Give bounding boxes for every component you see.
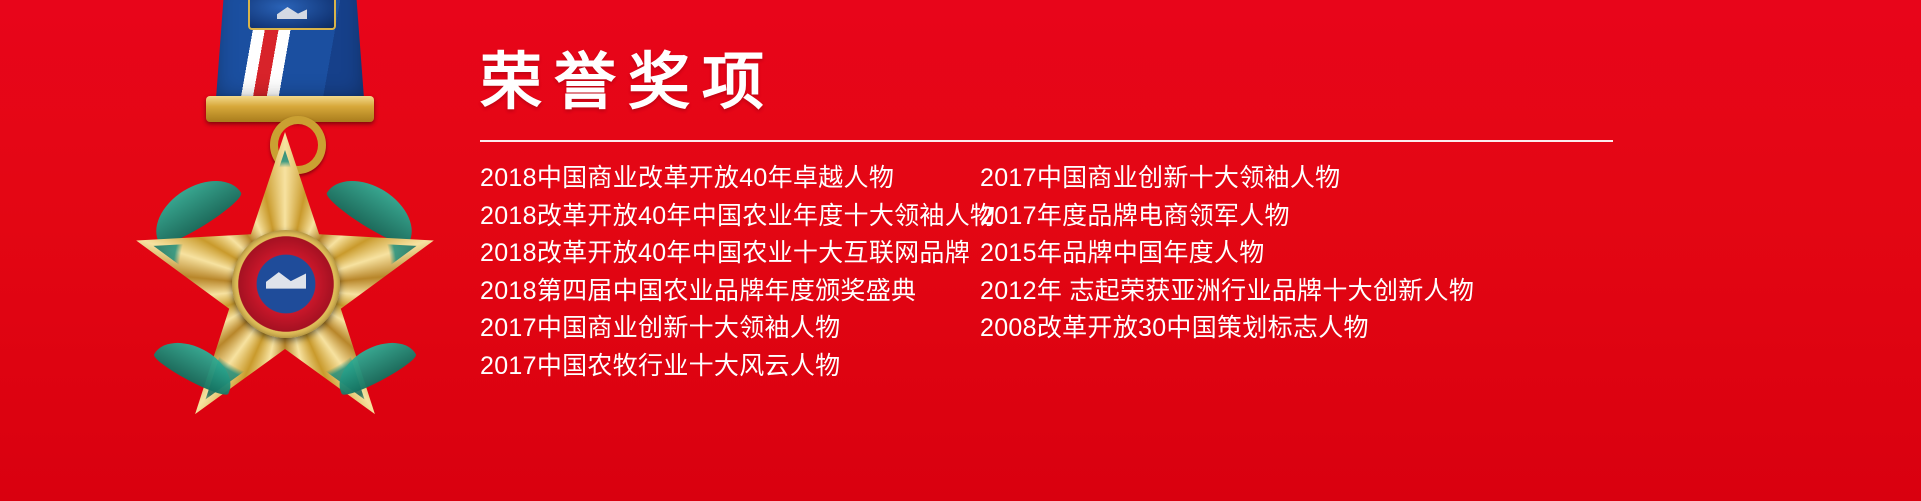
award-item: 2018第四届中国农业品牌年度颁奖盛典 <box>480 273 980 311</box>
page-title: 荣誉奖项 <box>480 0 1900 114</box>
award-item: 2008改革开放30中国策划标志人物 <box>980 310 1620 348</box>
medal-ribbon-badge-icon <box>248 0 336 30</box>
medal-award-icon <box>120 0 450 462</box>
title-divider <box>480 140 1613 142</box>
award-item: 2015年品牌中国年度人物 <box>980 235 1620 273</box>
award-item: 2017年度品牌电商领军人物 <box>980 198 1620 236</box>
honor-awards-banner: 荣誉奖项 2018中国商业改革开放40年卓越人物 2018改革开放40年中国农业… <box>0 0 1921 501</box>
award-item: 2017中国商业创新十大领袖人物 <box>480 310 980 348</box>
awards-right-column: 2017中国商业创新十大领袖人物 2017年度品牌电商领军人物 2015年品牌中… <box>980 160 1620 385</box>
medal-center-emblem-icon <box>232 230 340 338</box>
awards-left-column: 2018中国商业改革开放40年卓越人物 2018改革开放40年中国农业年度十大领… <box>480 160 980 385</box>
award-item: 2018中国商业改革开放40年卓越人物 <box>480 160 980 198</box>
awards-list: 2018中国商业改革开放40年卓越人物 2018改革开放40年中国农业年度十大领… <box>480 160 1620 385</box>
award-item: 2018改革开放40年中国农业年度十大领袖人物 <box>480 198 980 236</box>
award-item: 2012年 志起荣获亚洲行业品牌十大创新人物 <box>980 273 1620 311</box>
award-item: 2017中国农牧行业十大风云人物 <box>480 348 980 386</box>
award-item: 2018改革开放40年中国农业十大互联网品牌 <box>480 235 980 273</box>
award-item: 2017中国商业创新十大领袖人物 <box>980 160 1620 198</box>
banner-content: 荣誉奖项 2018中国商业改革开放40年卓越人物 2018改革开放40年中国农业… <box>480 0 1900 501</box>
